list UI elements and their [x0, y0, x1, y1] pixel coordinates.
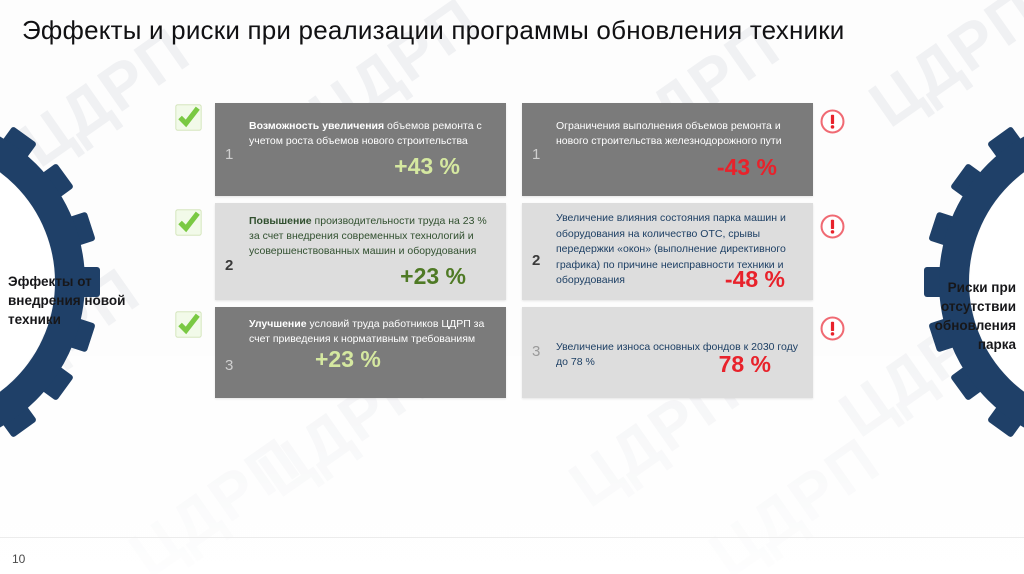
risk-card-3-value: 78 % — [719, 353, 771, 376]
check-mark-icon — [175, 104, 202, 131]
check-mark-icon — [175, 311, 202, 338]
effect-card-3-text: Улучшение условий труда работников ЦДРП … — [249, 317, 492, 347]
check-mark-icon — [175, 209, 202, 236]
risk-card-2[interactable]: 2 Увеличение влияния состояния парка маш… — [522, 203, 813, 300]
effect-card-3[interactable]: 3 Улучшение условий труда работников ЦДР… — [215, 307, 506, 398]
effect-card-1-lead: Возможность увеличения — [249, 120, 384, 132]
risk-card-2-value: -48 % — [725, 268, 785, 291]
risk-card-1-text: Ограничения выполнения объемов ремонта и… — [556, 119, 799, 149]
risk-card-2-index: 2 — [532, 253, 540, 268]
effects-column: 1 Возможность увеличения объемов ремонта… — [215, 103, 506, 405]
risk-card-1-index: 1 — [532, 147, 540, 162]
right-group-label: Риски при отсутствии обновления парка — [896, 278, 1016, 355]
risk-card-1[interactable]: 1 Ограничения выполнения объемов ремонта… — [522, 103, 813, 196]
footer-divider — [0, 537, 1024, 538]
risk-card-3-index: 3 — [532, 344, 540, 359]
effect-card-3-value: +23 % — [315, 348, 381, 371]
effect-card-2-index: 2 — [225, 258, 233, 273]
risk-card-3[interactable]: 3 Увеличение износа основных фондов к 20… — [522, 307, 813, 398]
page-number: 10 — [12, 552, 25, 566]
effect-card-3-index: 3 — [225, 358, 233, 373]
risk-card-1-rest: Ограничения выполнения объемов ремонта и… — [556, 120, 782, 147]
risk-card-1-value: -43 % — [717, 156, 777, 179]
effect-card-2-lead: Повышение — [249, 215, 312, 227]
slide-title: Эффекты и риски при реализации программы… — [22, 16, 1002, 46]
effect-card-1-text: Возможность увеличения объемов ремонта с… — [249, 119, 492, 149]
effect-card-1-index: 1 — [225, 147, 233, 162]
effect-card-1[interactable]: 1 Возможность увеличения объемов ремонта… — [215, 103, 506, 196]
risks-column: 1 Ограничения выполнения объемов ремонта… — [522, 103, 813, 405]
warning-exclamation-icon — [819, 315, 846, 342]
effect-card-2-value: +23 % — [400, 265, 466, 288]
effect-card-2[interactable]: 2 Повышение производительности труда на … — [215, 203, 506, 300]
warning-exclamation-icon — [819, 108, 846, 135]
effect-card-2-text: Повышение производительности труда на 23… — [249, 214, 492, 259]
warning-exclamation-icon — [819, 213, 846, 240]
left-group-label: Эффекты от внедрения новой техники — [8, 272, 128, 329]
effect-card-3-lead: Улучшение — [249, 318, 307, 330]
effect-card-1-value: +43 % — [394, 155, 460, 178]
